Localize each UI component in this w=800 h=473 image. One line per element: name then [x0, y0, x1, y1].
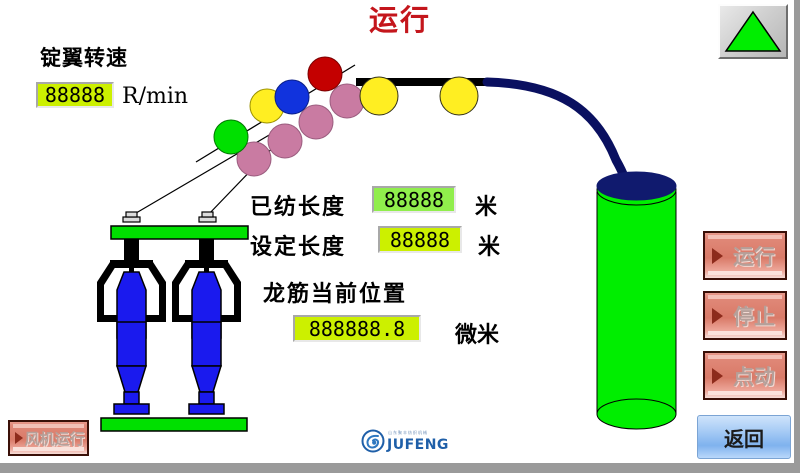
play-triangle-icon: [712, 368, 723, 384]
stop-button-label: 停止: [727, 293, 781, 338]
roller-yellow-2: [360, 77, 398, 115]
rail-position-label: 龙筋当前位置: [263, 276, 407, 308]
rail-position-value[interactable]: 888888.8: [293, 315, 421, 342]
lifting-rail: [111, 226, 248, 239]
spun-length-label: 已纺长度: [250, 189, 346, 221]
roller-pink-3: [299, 105, 333, 139]
up-triangle-icon: [724, 9, 782, 54]
roller-pink-2: [268, 124, 302, 158]
jog-button[interactable]: 点动: [703, 351, 787, 400]
hmi-canvas: 运行 锭翼转速 88888 R/min 已纺长度 88888 米 设定长度 88…: [0, 0, 794, 463]
spun-length-unit: 米: [475, 189, 497, 221]
sliver-path: [487, 82, 626, 186]
fan-run-button[interactable]: 风机运行: [8, 420, 89, 456]
set-length-unit: 米: [478, 229, 500, 261]
rail-bolts: [123, 212, 216, 222]
speed-value[interactable]: 88888: [36, 82, 114, 108]
run-button-label: 运行: [727, 233, 781, 278]
play-triangle-icon: [15, 432, 23, 444]
flyer-right: [172, 239, 241, 414]
jufeng-swirl-icon: [361, 429, 385, 453]
jog-button-label: 点动: [727, 353, 781, 398]
roller-yellow-1: [250, 89, 284, 123]
speed-label: 锭翼转速: [40, 42, 128, 72]
stop-button[interactable]: 停止: [703, 291, 787, 340]
roller-pink-4: [330, 84, 364, 118]
roller-yellow-3: [440, 77, 478, 115]
return-button[interactable]: 返回: [697, 415, 791, 459]
flyer-left: [97, 239, 166, 414]
base-rail: [101, 418, 247, 431]
play-triangle-icon: [712, 308, 723, 324]
logo-brand: JUFENG: [387, 437, 449, 453]
roller-bank: [214, 57, 478, 176]
roller-green: [214, 120, 248, 154]
package-cylinder: [597, 172, 676, 429]
incline-guide-line: [196, 65, 355, 162]
top-beam: [356, 78, 490, 86]
spun-length-value[interactable]: 88888: [372, 186, 456, 213]
run-button[interactable]: 运行: [703, 231, 787, 280]
roller-blue: [275, 80, 309, 114]
page-title: 运行: [330, 2, 470, 38]
play-triangle-icon: [712, 248, 723, 264]
package-top-cap: [597, 172, 676, 200]
set-length-label: 设定长度: [250, 229, 346, 261]
fan-run-button-label: 风机运行: [26, 422, 83, 454]
up-arrow-button[interactable]: [718, 4, 788, 59]
brand-logo: 山东聚丰纺织机械 JUFENG: [361, 429, 453, 455]
roller-pink-1: [237, 142, 271, 176]
speed-unit: R/min: [122, 84, 188, 109]
hmi-screen: 运行 锭翼转速 88888 R/min 已纺长度 88888 米 设定长度 88…: [0, 0, 800, 473]
set-length-value[interactable]: 88888: [378, 226, 462, 253]
spindle-assembly: [97, 212, 248, 431]
rail-position-unit: 微米: [455, 317, 499, 349]
roller-red: [308, 57, 342, 91]
logo-subtitle: 山东聚丰纺织机械: [388, 430, 428, 436]
